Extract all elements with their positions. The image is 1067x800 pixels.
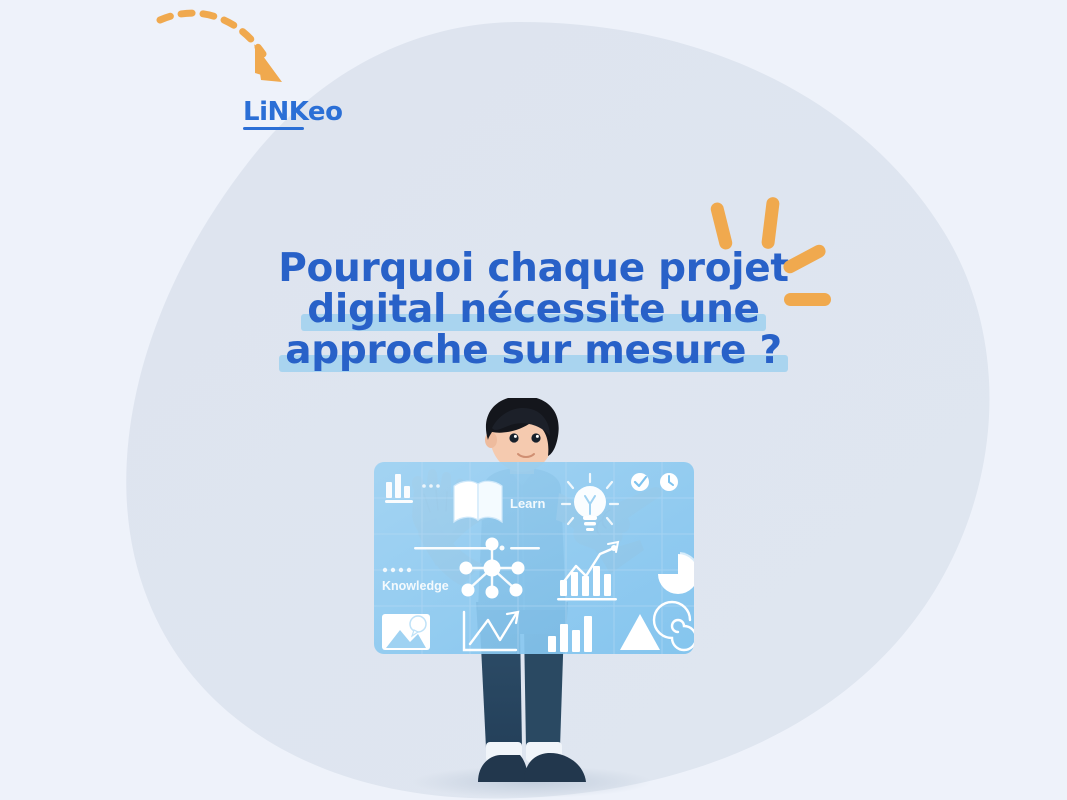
image-photo-icon [382,614,430,650]
burst-ray-1 [709,201,733,251]
panel-label-knowledge: Knowledge [382,579,449,593]
burst-ray-4 [784,293,831,306]
clock-icon [660,473,678,491]
bar-chart-dots [422,484,440,488]
burst-ray-2 [761,196,780,249]
left-shoe [478,755,528,782]
burst-ray-3 [781,242,828,275]
right-eye [531,433,540,442]
left-eye-shine [514,435,517,438]
left-eye [509,433,518,442]
logo-wordmark: LiNKeo [243,99,342,125]
page-title: Pourquoi chaque projet digital nécessite… [0,248,1067,371]
dashed-curved-arrow-icon [155,0,305,91]
slide-canvas: LiNKeo Pourquoi chaque projet digital né… [0,0,1067,800]
digital-dashboard-panel: Learn [374,462,700,654]
linkeo-logo[interactable]: LiNKeo [243,99,342,130]
orange-sparkle-burst-icon [705,196,840,311]
person-with-digital-dashboard-illustration: Learn [352,398,712,800]
open-book-icon [454,481,502,522]
panel-label-learn: Learn [510,496,545,511]
check-circle-icon [631,473,649,491]
heading-line-3: approche sur mesure ? [120,330,947,371]
right-eye-shine [536,435,539,438]
logo-underline [243,127,304,130]
